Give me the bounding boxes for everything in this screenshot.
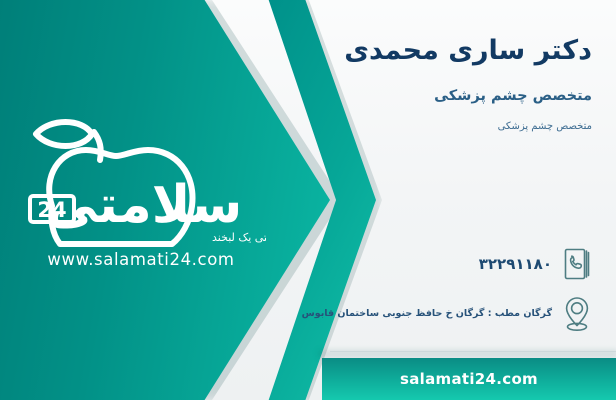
doctor-specialty: متخصص چشم پزشکی bbox=[240, 86, 592, 106]
brand-logo: سلامتی 24 به راحتی یک لبخند www.salamati… bbox=[16, 110, 266, 280]
phone-number: ۳۲۲۹۱۱۸۰ bbox=[238, 255, 556, 273]
footer-bar[interactable]: salamati24.com bbox=[322, 358, 616, 400]
footer-website: salamati24.com bbox=[400, 370, 538, 388]
doctor-specialty-secondary: متخصص چشم پزشکی bbox=[240, 120, 592, 134]
doctor-name: دکتر ساری محمدی bbox=[240, 34, 592, 68]
salamati-logo-icon: سلامتی 24 به راحتی یک لبخند bbox=[16, 110, 266, 260]
footer-shadow bbox=[318, 350, 616, 358]
svg-text:24: 24 bbox=[37, 198, 66, 222]
contact-block: ۳۲۲۹۱۱۸۰ گرگان مطب : گرگان خ حافظ جنوبی … bbox=[238, 243, 598, 343]
contact-row-phone[interactable]: ۳۲۲۹۱۱۸۰ bbox=[238, 243, 598, 285]
doctor-info-block: دکتر ساری محمدی متخصص چشم پزشکی متخصص چش… bbox=[240, 34, 592, 134]
phone-book-icon bbox=[556, 243, 598, 285]
clinic-address: گرگان مطب : گرگان خ حافظ جنوبی ساختمان ق… bbox=[238, 307, 556, 321]
business-card: سلامتی 24 به راحتی یک لبخند www.salamati… bbox=[0, 0, 616, 400]
contact-row-address[interactable]: گرگان مطب : گرگان خ حافظ جنوبی ساختمان ق… bbox=[238, 293, 598, 335]
map-pin-icon bbox=[556, 293, 598, 335]
logo-website-url: www.salamati24.com bbox=[16, 250, 266, 269]
